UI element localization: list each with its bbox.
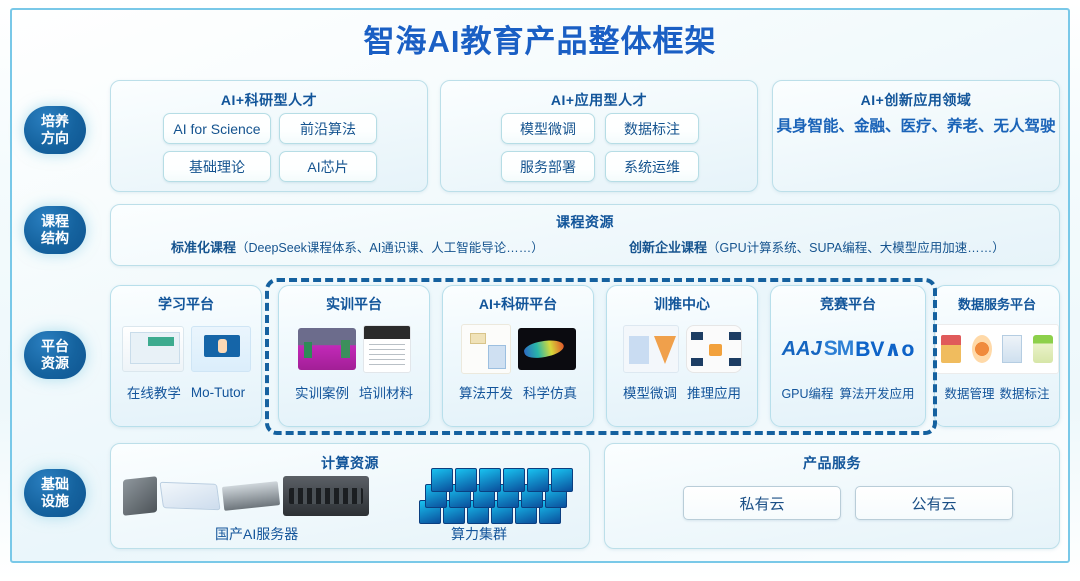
panel-product-services: 产品服务 私有云 公有云 [604,443,1060,549]
card-thumbnails [111,318,261,380]
pill-line-2: 结构 [41,230,69,247]
compute-label-server: 国产AI服务器 [215,524,298,544]
course-detail: （DeepSeek课程体系、AI通识课、人工智能导论……） [236,241,544,255]
tag-service-deploy[interactable]: 服务部署 [501,151,595,182]
page-title: 智海AI教育产品整体框架 [0,16,1080,61]
gpu-card-icon [222,481,280,511]
card-labels: 在线教学 Mo-Tutor [111,382,261,402]
panel-title: AI+科研型人才 [111,90,427,110]
pill-line-1: 基础 [41,476,69,493]
pill-line-2: 方向 [41,130,69,147]
pill-line-1: 课程 [41,213,69,230]
compute-label-cluster: 算力集群 [451,524,507,544]
panel-ai-innovation-domains: AI+创新应用领域 具身智能、金融、医疗、养老、无人驾驶 [772,80,1060,192]
row-label-课程结构: 课程 结构 [24,206,86,254]
server-hardware-group [123,476,369,516]
card-title: 数据服务平台 [935,294,1059,313]
sync-icon [972,335,992,363]
chip-module-icon [123,476,157,516]
board-icon [159,482,220,510]
card-label-0: 数据管理 [944,383,994,402]
test-tube-icon [941,335,961,363]
pill-line-1: 培养 [41,113,69,130]
course-detail: （GPU计算系统、SUPA编程、大模型应用加速……） [707,241,1005,255]
panel-title: 产品服务 [605,453,1059,473]
tag-ai-for-science[interactable]: AI for Science [163,113,271,144]
course-label: 创新企业课程 [629,240,707,255]
card-thumbnails [935,318,1059,380]
mo-tutor-thumb [191,326,251,372]
card-title: 学习平台 [111,294,261,314]
tag-model-finetune[interactable]: 模型微调 [501,113,595,144]
panel-course-resources: 课程资源 标准化课程（DeepSeek课程体系、AI通识课、人工智能导论……） … [110,204,1060,266]
panel-title: AI+应用型人才 [441,90,757,110]
database-stack-icon [1033,335,1053,363]
tag-data-annotation[interactable]: 数据标注 [605,113,699,144]
card-label-0: 在线教学 [127,382,181,402]
panel-ai-application-talent: AI+应用型人才 模型微调 数据标注 服务部署 系统运维 [440,80,758,192]
panel-title: 课程资源 [111,212,1059,232]
panel-title: AI+创新应用领域 [773,90,1059,110]
pill-line-2: 资源 [41,355,69,372]
course-line-standard: 标准化课程（DeepSeek课程体系、AI通识课、人工智能导论……） [171,237,544,256]
row-label-培养方向: 培养 方向 [24,106,86,154]
tag-frontier-algorithm[interactable]: 前沿算法 [279,113,377,144]
document-search-icon [1002,335,1022,363]
panel-compute-resources: 计算资源 国产AI服务器 算力集群 [110,443,590,549]
card-label-1: Mo-Tutor [191,385,245,400]
tag-basic-theory[interactable]: 基础理论 [163,151,271,182]
panel-ai-research-talent: AI+科研型人才 AI for Science 前沿算法 基础理论 AI芯片 [110,80,428,192]
pill-line-1: 平台 [41,338,69,355]
card-labels: 数据管理 数据标注 [935,383,1059,402]
domain-list-text: 具身智能、金融、医疗、养老、无人驾驶 [773,114,1059,136]
course-line-enterprise: 创新企业课程（GPU计算系统、SUPA编程、大模型应用加速……） [629,237,1005,256]
card-label-1: 数据标注 [1000,383,1050,402]
course-label: 标准化课程 [171,240,236,255]
pill-line-2: 设施 [41,493,69,510]
tag-system-ops[interactable]: 系统运维 [605,151,699,182]
online-classroom-thumb [122,326,184,372]
framework-diagram: 智海AI教育产品整体框架 培养 方向 AI+科研型人才 AI for Scien… [0,0,1080,581]
rack-server-icon [283,476,369,516]
core-platform-dashed-outline [265,278,937,435]
platform-card-data-service[interactable]: 数据服务平台 数据管理 数据标注 [934,285,1060,427]
public-cloud-button[interactable]: 公有云 [855,486,1013,520]
private-cloud-button[interactable]: 私有云 [683,486,841,520]
row-label-基础设施: 基础 设施 [24,469,86,517]
row-label-平台资源: 平台 资源 [24,331,86,379]
data-icons-thumb [935,324,1059,374]
tag-ai-chip[interactable]: AI芯片 [279,151,377,182]
platform-card-learning[interactable]: 学习平台 在线教学 Mo-Tutor [110,285,262,427]
